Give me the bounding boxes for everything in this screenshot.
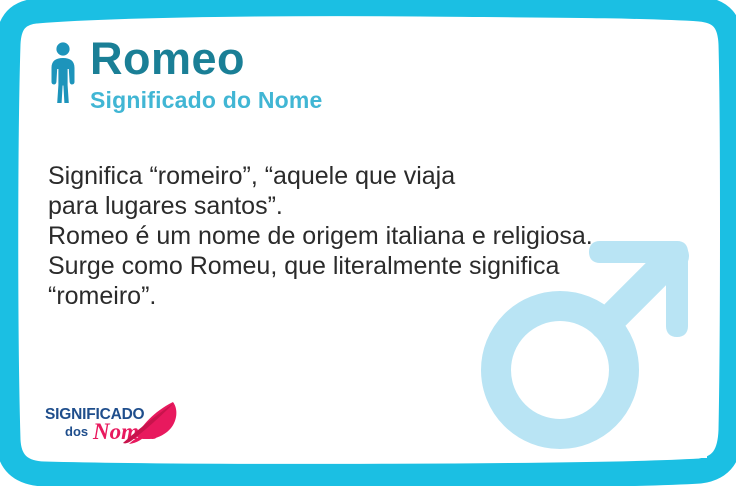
card-header: Romeo Significado do Nome xyxy=(48,34,323,114)
page-title: Romeo xyxy=(90,34,323,84)
male-person-icon xyxy=(48,42,78,104)
logo-line-dos: dos xyxy=(65,424,88,439)
header-titles: Romeo Significado do Nome xyxy=(90,34,323,114)
site-logo[interactable]: SIGNIFICADO dos Nomes xyxy=(43,398,183,454)
card-inner-plate: Romeo Significado do Nome Significa “rom… xyxy=(33,26,707,458)
name-meaning-card: Romeo Significado do Nome Significa “rom… xyxy=(0,0,736,486)
page-subtitle: Significado do Nome xyxy=(90,87,323,114)
significado-dos-nomes-logo: SIGNIFICADO dos Nomes xyxy=(43,398,183,454)
name-meaning-text: Significa “romeiro”, “aquele que viaja p… xyxy=(48,161,688,311)
